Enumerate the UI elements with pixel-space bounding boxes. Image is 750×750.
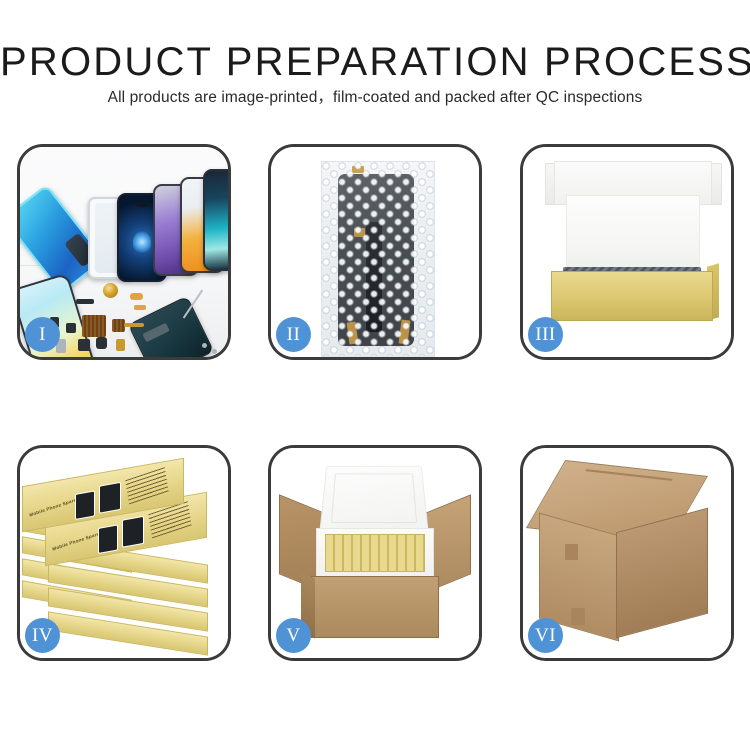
step-3-photo: III <box>523 147 731 357</box>
screw-part <box>212 349 217 354</box>
phone-screen-teal <box>203 169 231 271</box>
step-4-photo: Mobile Phone Spare Parts Mobile Phone Sp… <box>20 448 228 658</box>
step-5-photo: V <box>271 448 479 658</box>
box-screen-artwork <box>98 524 118 554</box>
carton-tape-patch-upper <box>565 544 578 560</box>
screw-set-part <box>116 339 125 351</box>
step-badge-ii: II <box>276 317 311 352</box>
bubble-texture <box>322 162 434 356</box>
camera-module-part <box>66 323 76 333</box>
process-step-3: III <box>520 144 734 360</box>
process-step-1: I <box>17 144 231 360</box>
screw-part <box>202 343 207 348</box>
step-badge-i: I <box>25 317 60 352</box>
process-step-2: II <box>268 144 482 360</box>
step-badge-iii: III <box>528 317 563 352</box>
step-1-photo: I <box>20 147 228 357</box>
step-2-photo: II <box>271 147 479 357</box>
flex-cable-part-c <box>124 323 144 327</box>
step-badge-iv: IV <box>25 618 60 653</box>
process-step-4: Mobile Phone Spare Parts Mobile Phone Sp… <box>17 445 231 661</box>
carton-body <box>311 576 439 638</box>
page-header: PRODUCT PREPARATION PROCESS All products… <box>0 0 750 130</box>
box-screen-artwork <box>99 482 121 514</box>
step-6-photo: VI <box>523 448 731 658</box>
foam-lid <box>319 466 428 533</box>
process-panel-grid: I II III <box>17 144 734 678</box>
box-screen-artwork <box>75 490 95 520</box>
antenna-strip-part <box>76 299 94 304</box>
vibration-motor-part <box>103 283 118 298</box>
flex-cable-part-b <box>134 305 146 310</box>
connector-grid-part <box>82 315 106 337</box>
box-screen-artwork <box>122 516 144 548</box>
page-subtitle: All products are image-printed，film-coat… <box>0 88 750 108</box>
carton-tape-patch-lower <box>571 608 585 625</box>
flex-cable-part-a <box>130 293 143 300</box>
process-step-6: VI <box>520 445 734 661</box>
page-title: PRODUCT PREPARATION PROCESS <box>0 40 750 84</box>
button-part <box>96 337 107 349</box>
taptic-engine-part <box>78 339 90 351</box>
box-spec-text <box>125 467 169 505</box>
yellow-boxes-inside <box>325 534 425 572</box>
bubble-wrap-bag <box>321 161 435 357</box>
yellow-box-body <box>551 271 713 321</box>
process-step-5: V <box>268 445 482 661</box>
step-badge-v: V <box>276 618 311 653</box>
step-badge-vi: VI <box>528 618 563 653</box>
connector-grid-small-part <box>112 319 125 332</box>
foam-liner <box>566 195 700 277</box>
